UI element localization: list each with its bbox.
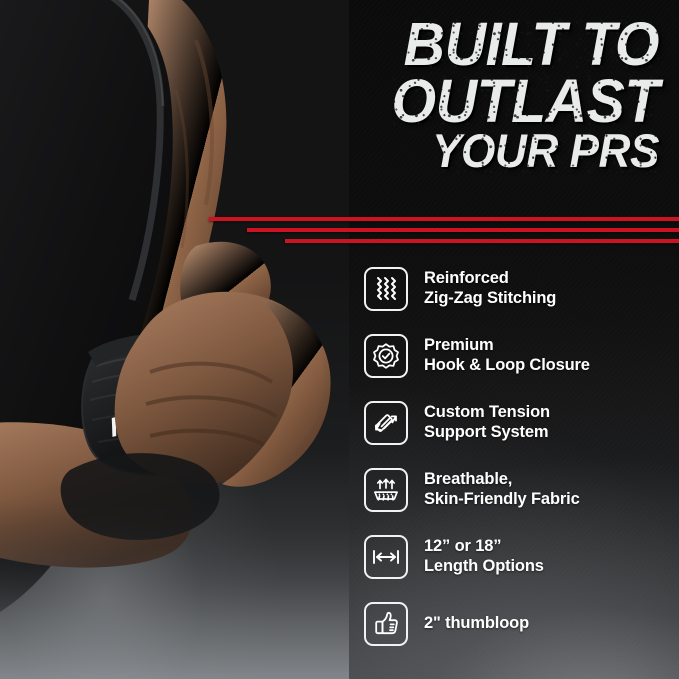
feature-label-line-2: Hook & Loop Closure (424, 356, 590, 375)
tension-strap-icon (364, 401, 408, 445)
feature-label-line-1: 12” or 18” (424, 537, 544, 556)
feature-item: Premium Hook & Loop Closure (364, 322, 679, 389)
feature-label-line-2: Zig-Zag Stitching (424, 289, 556, 308)
feature-label: Breathable, Skin-Friendly Fabric (424, 470, 580, 508)
feature-label-line-2: Length Options (424, 557, 544, 576)
feature-label-line-2: Support System (424, 423, 550, 442)
feature-item: Breathable, Skin-Friendly Fabric (364, 456, 679, 523)
accent-rule-2 (247, 228, 679, 232)
feature-label-line-2: Skin-Friendly Fabric (424, 490, 580, 509)
thumbs-up-icon (364, 602, 408, 646)
breathable-fabric-icon (364, 468, 408, 512)
feature-label-line-1: Reinforced (424, 269, 556, 288)
accent-rule-3 (285, 239, 679, 243)
feature-item: Custom Tension Support System (364, 389, 679, 456)
headline-line-2: OUTLAST (234, 73, 659, 130)
feature-list: Reinforced Zig-Zag Stitching Premium Hoo… (364, 255, 679, 657)
floor-fade (0, 500, 349, 679)
accent-rule-1 (209, 217, 679, 221)
feature-label-line-1: 2" thumbloop (424, 614, 529, 633)
feature-item: 12” or 18” Length Options (364, 523, 679, 590)
headline-line-1: BUILT TO (234, 16, 659, 73)
feature-label-line-1: Breathable, (424, 470, 580, 489)
feature-label: Premium Hook & Loop Closure (424, 336, 590, 374)
headline-block: BUILT TO OUTLAST YOUR PRS (207, 16, 659, 173)
feature-label: Custom Tension Support System (424, 403, 550, 441)
feature-item: 2" thumbloop (364, 590, 679, 657)
product-feature-graphic: HUSTL ATHLETICS (0, 0, 679, 679)
feature-label: Reinforced Zig-Zag Stitching (424, 269, 556, 307)
feature-label: 12” or 18” Length Options (424, 537, 544, 575)
zigzag-stitch-icon (364, 267, 408, 311)
feature-label-line-1: Custom Tension (424, 403, 550, 422)
length-measure-icon (364, 535, 408, 579)
headline-line-3: YOUR PRS (234, 129, 659, 173)
feature-label: 2" thumbloop (424, 614, 529, 633)
feature-label-line-1: Premium (424, 336, 590, 355)
badge-check-icon (364, 334, 408, 378)
red-accent-rules (209, 217, 679, 250)
feature-item: Reinforced Zig-Zag Stitching (364, 255, 679, 322)
